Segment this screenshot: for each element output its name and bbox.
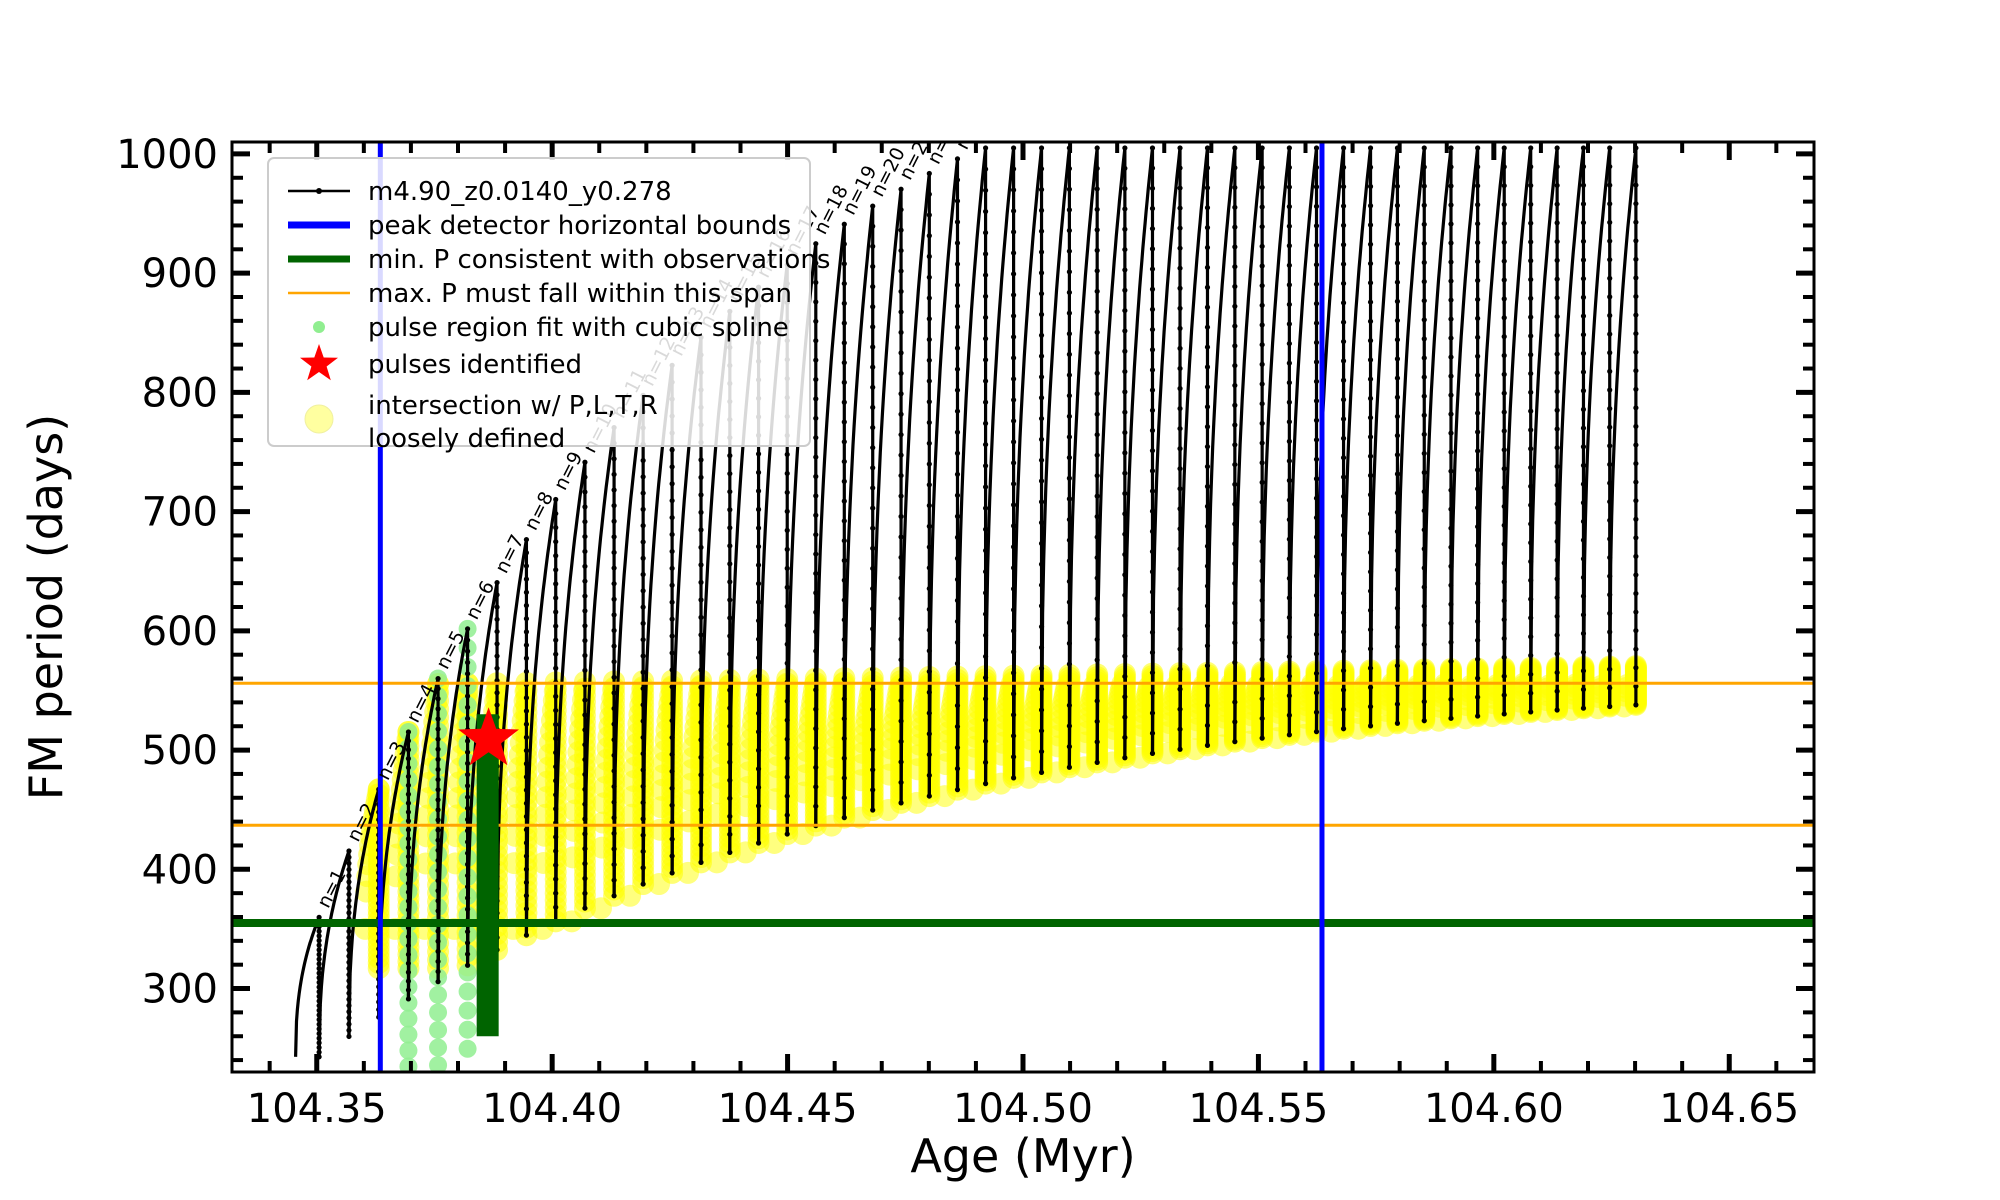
line-dot-icon <box>316 188 322 194</box>
dot-icon <box>313 321 325 333</box>
fm-period-vs-age-plot: n=1n=2n=3n=4n=5n=6n=7n=8n=9n=10n=11n=12n… <box>0 0 2000 1200</box>
x-tick-label: 104.65 <box>1659 1086 1799 1132</box>
x-tick-label: 104.55 <box>1188 1086 1328 1132</box>
y-tick-label: 900 <box>142 251 218 297</box>
chart-legend: m4.90_z0.0140_y0.278peak detector horizo… <box>268 158 830 454</box>
legend-label: pulse region fit with cubic spline <box>368 313 789 343</box>
pulse-index-label: n=28 <box>1091 86 1134 142</box>
x-tick-label: 104.35 <box>247 1086 387 1132</box>
y-tick-label: 300 <box>142 967 218 1013</box>
y-tick-label: 1000 <box>116 132 218 178</box>
legend-label: pulses identified <box>368 350 582 380</box>
pulse-index-label: n=27 <box>1063 86 1106 142</box>
legend-label: max. P must fall within this span <box>368 279 792 309</box>
x-tick-label: 104.40 <box>482 1086 622 1132</box>
legend-label: peak detector horizontal bounds <box>368 211 791 241</box>
y-tick-label: 600 <box>142 609 218 655</box>
pulse-index-label: n=25 <box>1007 86 1050 142</box>
legend-label-line2: loosely defined <box>368 424 565 454</box>
legend-entry: min. P consistent with observations <box>288 245 830 275</box>
big-dot-icon <box>305 405 333 433</box>
x-axis-label: Age (Myr) <box>910 1129 1135 1183</box>
legend-label: min. P consistent with observations <box>368 245 830 275</box>
x-tick-label: 104.60 <box>1424 1086 1564 1132</box>
legend-entry: pulse region fit with cubic spline <box>313 313 789 343</box>
legend-label: m4.90_z0.0140_y0.278 <box>368 177 672 207</box>
x-tick-label: 104.50 <box>953 1086 1093 1132</box>
pulse-index-label: n=26 <box>1035 86 1078 142</box>
chart-figure: n=1n=2n=3n=4n=5n=6n=7n=8n=9n=10n=11n=12n… <box>0 0 2000 1200</box>
y-tick-label: 400 <box>142 847 218 893</box>
x-tick-label: 104.45 <box>718 1086 858 1132</box>
y-tick-label: 500 <box>142 728 218 774</box>
y-tick-label: 800 <box>142 370 218 416</box>
y-tick-label: 700 <box>142 490 218 536</box>
legend-label: intersection w/ P,L,T,R <box>368 391 658 421</box>
y-axis-label: FM period (days) <box>19 414 73 800</box>
pulse-index-label: n=24 <box>979 86 1022 142</box>
